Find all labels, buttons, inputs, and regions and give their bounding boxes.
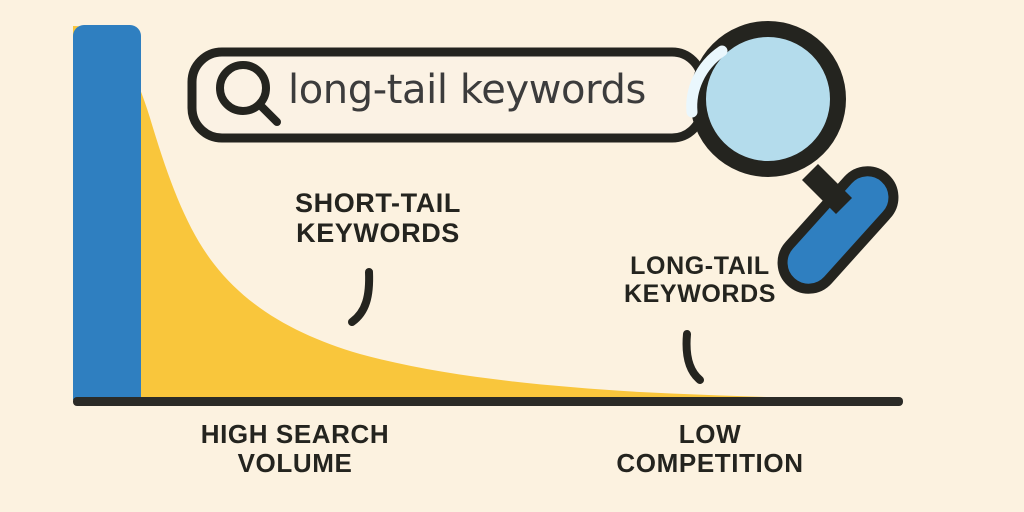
axis-label-low-competition: LOW COMPETITION: [545, 420, 875, 478]
search-query-text[interactable]: long-tail keywords: [288, 67, 646, 113]
annotation-short-tail-keywords: SHORT-TAIL KEYWORDS: [238, 188, 518, 248]
annotation-long-tail-keywords: LONG-TAIL KEYWORDS: [560, 252, 840, 308]
head-term-bar-base: [73, 200, 141, 400]
infographic-canvas: long-tail keywords SHORT-TAIL KEYWORDS L…: [0, 0, 1024, 512]
pointer-hook-right: [687, 334, 700, 380]
axis-label-high-search-volume: HIGH SEARCH VOLUME: [140, 420, 450, 478]
baseline-axis: [73, 397, 903, 406]
pointer-hook-left: [352, 272, 369, 322]
